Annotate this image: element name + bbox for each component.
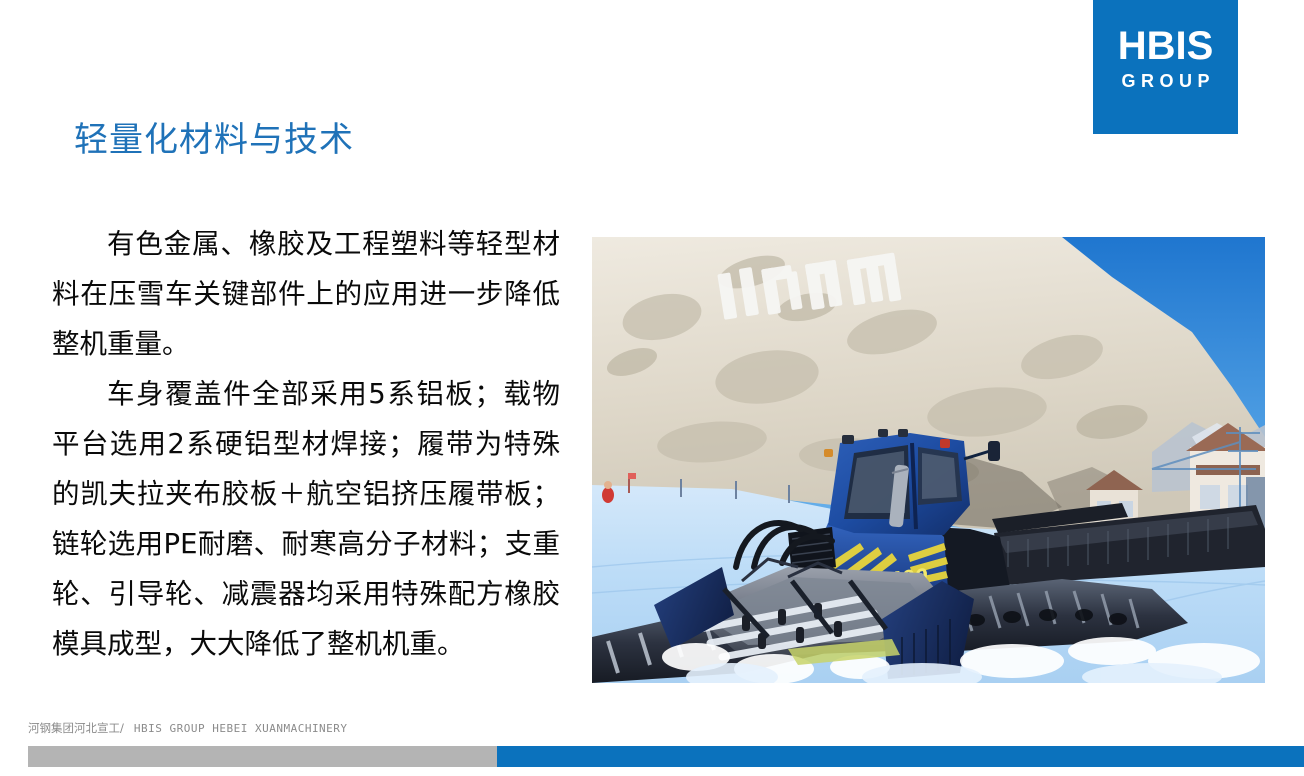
paragraph-1: 有色金属、橡胶及工程塑料等轻型材料在压雪车关键部件上的应用进一步降低整机重量。 [52,219,560,369]
hbis-group-logo: HBIS GROUP [1093,0,1238,134]
body-text-block: 有色金属、橡胶及工程塑料等轻型材料在压雪车关键部件上的应用进一步降低整机重量。 … [52,219,560,669]
footer-note-en: HBIS GROUP HEBEI XUANMACHINERY [134,722,348,735]
snow-groomer-photo: SG400 [592,237,1265,683]
logo-wordmark: HBIS [1093,26,1238,66]
paragraph-2: 车身覆盖件全部采用5系铝板；载物平台选用2系硬铝型材焊接；履带为特殊的凯夫拉夹布… [52,369,560,669]
footer-note-cn: 河钢集团河北宣工/ [28,721,124,735]
page-title: 轻量化材料与技术 [74,112,354,161]
logo-subtitle: GROUP [1093,72,1238,90]
bottom-bar-blue-segment [497,746,1304,767]
bottom-accent-bar [28,746,1304,767]
footer-note: 河钢集团河北宣工/HBIS GROUP HEBEI XUANMACHINERY [28,720,348,736]
photo-illustration: SG400 [592,237,1265,683]
bottom-bar-gray-segment [28,746,497,767]
